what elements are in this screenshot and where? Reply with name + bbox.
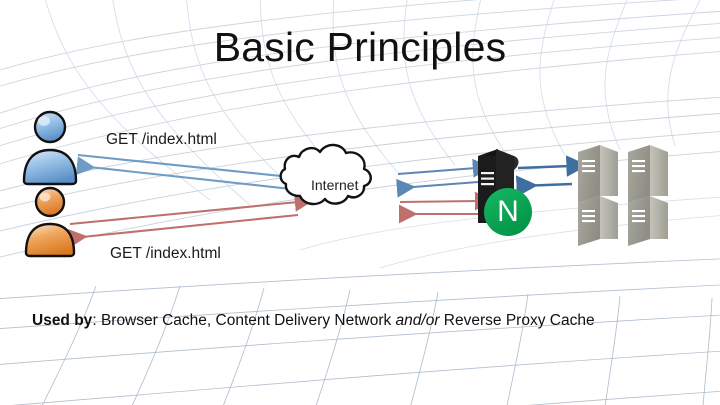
slide-canvas: Basic Principles [0, 0, 720, 405]
user-blue-icon [24, 112, 76, 184]
architecture-diagram [0, 0, 720, 405]
caption-part-two: Reverse Proxy Cache [440, 312, 595, 329]
server-tower [628, 145, 668, 203]
server-tower [578, 196, 618, 246]
internet-cloud-icon [281, 145, 371, 204]
caption: Used by: Browser Cache, Content Delivery… [32, 312, 595, 330]
caption-emphasis: and/or [396, 312, 440, 329]
nginx-n-letter: N [497, 197, 519, 227]
arrow-red-request-to-cloud [70, 202, 298, 224]
label-internet-cloud: Internet [311, 177, 358, 193]
arrow-blue-cloud-to-nginx [398, 168, 476, 174]
arrow-blue-nginx-to-backend [518, 166, 570, 168]
server-tower [578, 145, 618, 203]
label-get-request-bottom: GET /index.html [110, 245, 221, 263]
arrow-red-response-to-user [72, 215, 298, 238]
caption-lead: Used by [32, 312, 92, 329]
label-get-request-top: GET /index.html [106, 131, 217, 149]
arrow-blue-nginx-to-cloud [400, 182, 478, 188]
arrow-blue-backend-to-nginx [520, 184, 572, 186]
caption-separator: : [92, 312, 101, 329]
user-orange-icon [26, 188, 74, 256]
arrow-red-cloud-to-nginx [400, 201, 478, 202]
arrow-blue-response-to-user [80, 166, 300, 190]
nginx-logo-badge: N [484, 188, 532, 236]
backend-server-farm [578, 145, 668, 246]
arrow-blue-request-to-cloud [78, 155, 300, 178]
server-tower [628, 196, 668, 246]
caption-part-one: Browser Cache, Content Delivery Network [101, 312, 396, 329]
